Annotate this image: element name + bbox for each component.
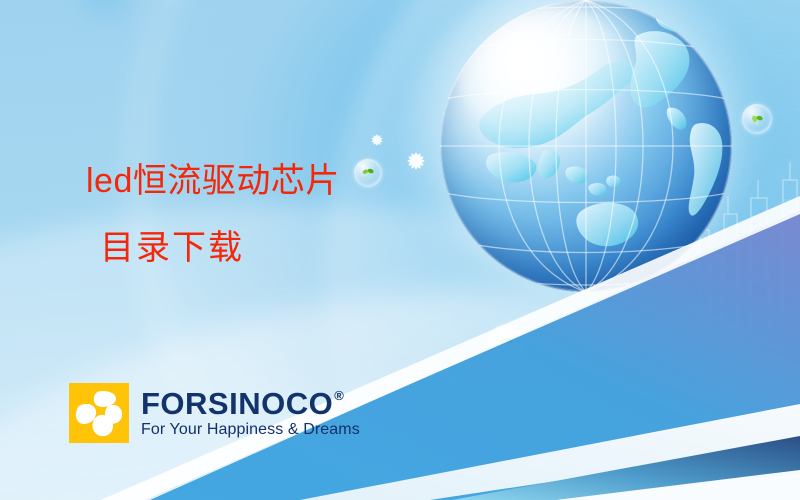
poster-canvas: led恒流驱动芯片 目录下载 FORSINOCO ® For Your Happ… bbox=[0, 0, 800, 500]
brand-logo: FORSINOCO ® For Your Happiness & Dreams bbox=[69, 383, 360, 443]
brand-text-block: FORSINOCO ® For Your Happiness & Dreams bbox=[141, 388, 360, 439]
four-petal-flower-icon bbox=[69, 383, 129, 443]
brand-name-text: FORSINOCO bbox=[141, 388, 333, 419]
registered-trademark-icon: ® bbox=[334, 389, 344, 402]
bubble-with-green-sprout-icon bbox=[742, 104, 772, 134]
globe-rim bbox=[440, 0, 732, 292]
globe-icon bbox=[440, 0, 732, 292]
page-subtitle: 目录下载 bbox=[100, 231, 244, 265]
bubble-with-green-sprout-icon bbox=[489, 325, 523, 359]
globe-sphere bbox=[440, 0, 732, 292]
sparkle-icon bbox=[367, 130, 387, 150]
brand-name: FORSINOCO ® bbox=[141, 388, 360, 419]
brand-tagline: For Your Happiness & Dreams bbox=[141, 421, 360, 439]
green-sprout-icon bbox=[497, 333, 516, 352]
four-petal-flower-glyph bbox=[69, 383, 129, 443]
green-sprout-icon bbox=[749, 111, 766, 128]
page-title: led恒流驱动芯片 bbox=[86, 164, 506, 198]
